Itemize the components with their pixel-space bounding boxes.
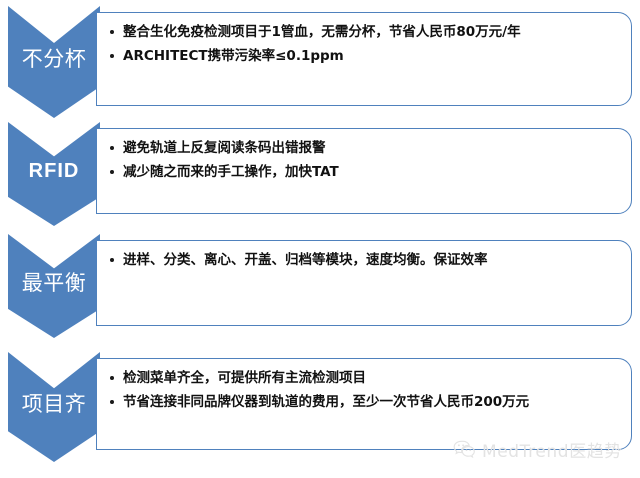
- bullet-item: 整合生化免疫检测项目于1管血，无需分杯，节省人民币80万元/年: [109, 22, 621, 43]
- bullet-dot-icon: [110, 258, 114, 262]
- bullet-text: 节省连接非同品牌仪器到轨道的费用，至少一次节省人民币200万元: [123, 394, 529, 410]
- bullet-dot-icon: [110, 54, 114, 58]
- chevron-label: 项目齐: [22, 393, 87, 421]
- bullet-list: 避免轨道上反复阅读条码出错报警减少随之而来的手工操作，加快TAT: [109, 138, 621, 183]
- feature-row: RFID避免轨道上反复阅读条码出错报警减少随之而来的手工操作，加快TAT: [0, 122, 640, 226]
- bullet-dot-icon: [110, 146, 114, 150]
- bullet-list: 检测菜单齐全，可提供所有主流检测项目节省连接非同品牌仪器到轨道的费用，至少一次节…: [109, 368, 621, 413]
- chevron-banner[interactable]: 最平衡: [8, 234, 100, 338]
- bullet-text: ARCHITECT携带污染率≤0.1ppm: [123, 48, 344, 64]
- bullet-dot-icon: [110, 30, 114, 34]
- chevron-banner[interactable]: 不分杯: [8, 6, 100, 118]
- feature-row: 最平衡进样、分类、离心、开盖、归档等模块，速度均衡。保证效率: [0, 234, 640, 338]
- bullet-text: 避免轨道上反复阅读条码出错报警: [123, 140, 326, 156]
- bullet-text: 减少随之而来的手工操作，加快TAT: [123, 164, 339, 180]
- bullet-list: 整合生化免疫检测项目于1管血，无需分杯，节省人民币80万元/年ARCHITECT…: [109, 22, 621, 67]
- chevron-banner[interactable]: 项目齐: [8, 352, 100, 462]
- feature-panel: 检测菜单齐全，可提供所有主流检测项目节省连接非同品牌仪器到轨道的费用，至少一次节…: [96, 358, 632, 450]
- feature-row: 不分杯整合生化免疫检测项目于1管血，无需分杯，节省人民币80万元/年ARCHIT…: [0, 6, 640, 118]
- chevron-label: 最平衡: [22, 272, 87, 300]
- bullet-dot-icon: [110, 400, 114, 404]
- bullet-item: 检测菜单齐全，可提供所有主流检测项目: [109, 368, 621, 389]
- bullet-dot-icon: [110, 170, 114, 174]
- bullet-list: 进样、分类、离心、开盖、归档等模块，速度均衡。保证效率: [109, 250, 621, 271]
- bullet-item: 节省连接非同品牌仪器到轨道的费用，至少一次节省人民币200万元: [109, 392, 621, 413]
- bullet-item: 减少随之而来的手工操作，加快TAT: [109, 162, 621, 183]
- bullet-item: ARCHITECT携带污染率≤0.1ppm: [109, 46, 621, 67]
- feature-panel: 避免轨道上反复阅读条码出错报警减少随之而来的手工操作，加快TAT: [96, 128, 632, 214]
- bullet-item: 进样、分类、离心、开盖、归档等模块，速度均衡。保证效率: [109, 250, 621, 271]
- bullet-text: 整合生化免疫检测项目于1管血，无需分杯，节省人民币80万元/年: [123, 24, 521, 40]
- feature-panel: 整合生化免疫检测项目于1管血，无需分杯，节省人民币80万元/年ARCHITECT…: [96, 12, 632, 106]
- chevron-label: RFID: [29, 161, 80, 188]
- chevron-label: 不分杯: [22, 48, 87, 76]
- chevron-banner[interactable]: RFID: [8, 122, 100, 226]
- feature-panel: 进样、分类、离心、开盖、归档等模块，速度均衡。保证效率: [96, 240, 632, 326]
- feature-row: 项目齐检测菜单齐全，可提供所有主流检测项目节省连接非同品牌仪器到轨道的费用，至少…: [0, 352, 640, 462]
- bullet-text: 检测菜单齐全，可提供所有主流检测项目: [123, 370, 366, 386]
- bullet-item: 避免轨道上反复阅读条码出错报警: [109, 138, 621, 159]
- slide-canvas: 不分杯整合生化免疫检测项目于1管血，无需分杯，节省人民币80万元/年ARCHIT…: [0, 0, 640, 478]
- bullet-text: 进样、分类、离心、开盖、归档等模块，速度均衡。保证效率: [123, 252, 488, 268]
- bullet-dot-icon: [110, 376, 114, 380]
